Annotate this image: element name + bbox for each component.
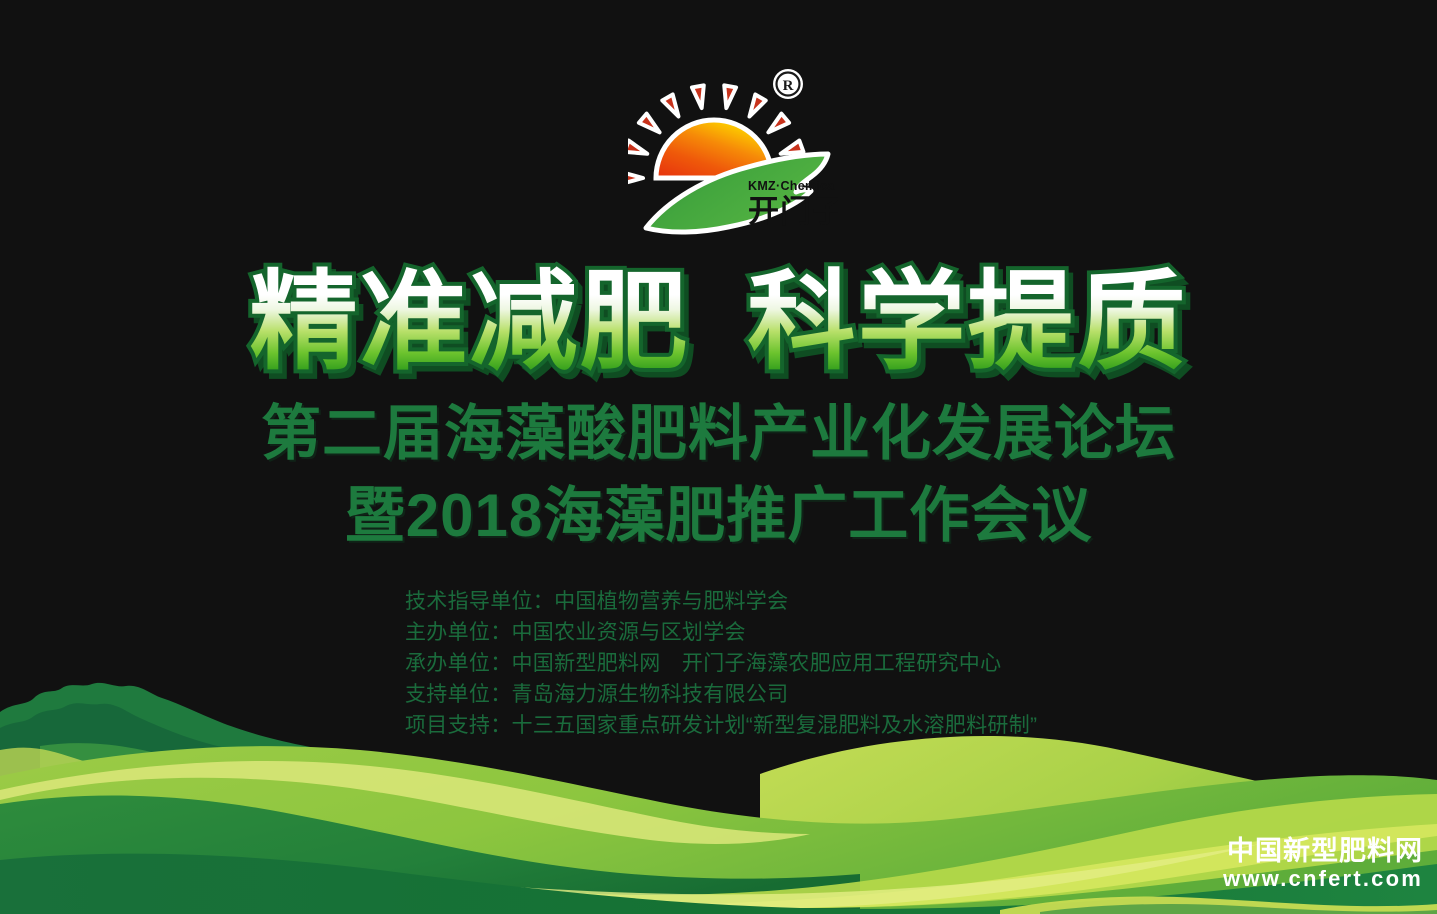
watermark-url: www.cnfert.com	[1223, 867, 1423, 892]
credit-line-technical-guidance: 技术指导单位：中国植物营养与肥料学会	[405, 586, 1037, 617]
poster-root: R KMZ·Chemical 开门子 精准减肥 精准减肥 精准减肥 科学提质 科…	[0, 0, 1437, 914]
subtitle-line-1: 第二届海藻酸肥料产业化发展论坛	[0, 404, 1437, 464]
subtitle-line-2: 暨2018海藻肥推广工作会议	[0, 486, 1437, 546]
watermark-site-name: 中国新型肥料网	[1223, 836, 1423, 866]
logo-latin-text: KMZ·Chemical	[748, 179, 838, 193]
brand-logo: R KMZ·Chemical 开门子	[628, 62, 838, 247]
registered-trademark-icon: R	[773, 69, 803, 99]
headline-part-2-fill: 科学提质	[748, 261, 1188, 382]
site-watermark: 中国新型肥料网 www.cnfert.com	[1223, 836, 1423, 892]
headline-part-2: 科学提质 科学提质 科学提质	[748, 268, 1188, 376]
credit-line-organizer: 主办单位：中国农业资源与区划学会	[405, 617, 1037, 648]
svg-text:R: R	[783, 78, 794, 94]
landscape-svg	[0, 654, 1437, 914]
landscape-illustration	[0, 654, 1437, 914]
logo-svg: R KMZ·Chemical 开门子	[628, 62, 838, 247]
headline-part-1-fill: 精准减肥	[249, 261, 689, 382]
headline-part-1: 精准减肥 精准减肥 精准减肥	[249, 268, 689, 376]
logo-chinese-text: 开门子	[748, 194, 838, 229]
poster-headline: 精准减肥 精准减肥 精准减肥 科学提质 科学提质 科学提质	[0, 268, 1437, 376]
